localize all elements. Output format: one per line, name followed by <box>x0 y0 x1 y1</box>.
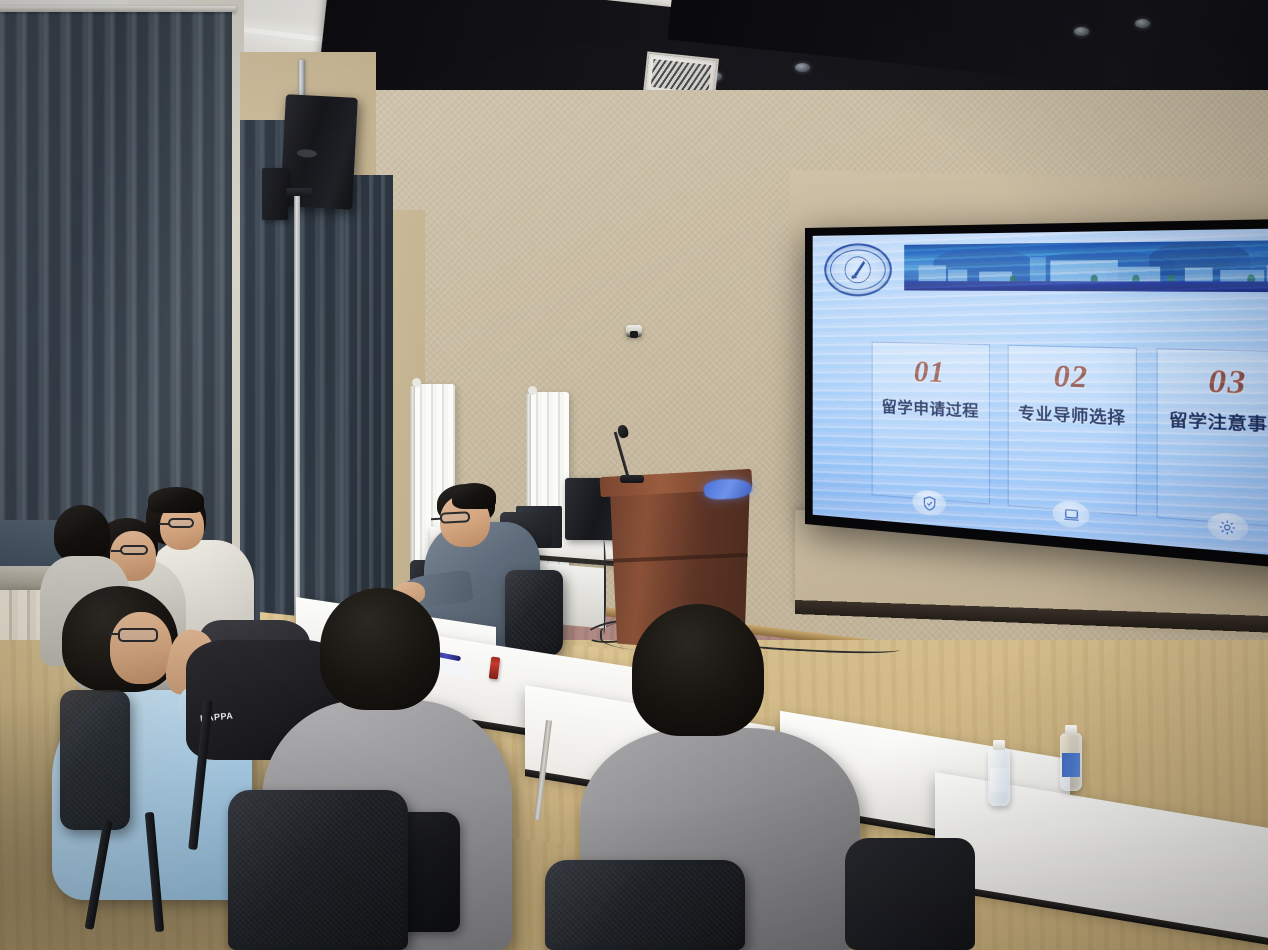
student-3-bangs <box>148 487 204 513</box>
seal-emblem-icon <box>843 254 873 285</box>
slide-card: 01 留学申请过程 <box>872 342 990 505</box>
water-bottle[interactable] <box>988 748 1010 806</box>
card-number: 01 <box>914 358 945 388</box>
recessed-downlight-icon <box>795 63 810 72</box>
student-1-glasses <box>118 628 158 642</box>
student-1-head <box>110 612 172 684</box>
chair-mesh-back <box>510 575 558 651</box>
chair[interactable] <box>545 860 745 950</box>
chair-mesh-back <box>65 695 125 825</box>
curtain-rod <box>0 6 236 12</box>
card-title: 留学注意事项 <box>1169 407 1268 437</box>
gear-icon <box>1206 510 1250 544</box>
window-curtain <box>345 175 393 605</box>
speaker-support-pole <box>294 196 300 616</box>
card-number: 02 <box>1054 362 1089 394</box>
campus-panorama-banner <box>904 240 1268 292</box>
bottle-label <box>990 768 1008 792</box>
security-camera-icon <box>626 325 642 337</box>
slide-surface: 01 留学申请过程 02 专业导师选择 <box>813 228 1268 561</box>
slide-cards-row: 01 留学申请过程 02 专业导师选择 <box>872 342 1268 530</box>
student-4-hair <box>54 505 110 563</box>
chair[interactable] <box>228 790 408 950</box>
shield-check-icon <box>912 488 948 518</box>
recessed-downlight-icon <box>1135 19 1150 28</box>
slide-card: 02 专业导师选择 <box>1007 345 1137 517</box>
laptop-icon <box>1051 499 1090 531</box>
recessed-downlight-icon <box>1074 27 1089 36</box>
card-number: 03 <box>1208 367 1246 401</box>
student-3-glasses <box>168 518 194 528</box>
presenter-glasses <box>440 511 471 524</box>
led-display-screen[interactable]: 01 留学申请过程 02 专业导师选择 <box>805 218 1268 573</box>
chair-mesh-back <box>233 795 403 945</box>
student-6-hair <box>632 604 764 736</box>
speaker-mount-bracket <box>262 168 288 220</box>
card-title: 专业导师选择 <box>1018 401 1126 429</box>
desk-cable <box>600 540 606 635</box>
student-5-hair <box>320 588 440 710</box>
chair[interactable] <box>505 570 563 656</box>
slide-card: 03 留学注意事项 <box>1157 348 1268 529</box>
chair-mesh-back <box>550 865 740 945</box>
university-seal-logo <box>824 243 892 297</box>
seminar-room-photo: 01 留学申请过程 02 专业导师选择 <box>0 0 1268 950</box>
student-2-glasses <box>120 545 148 555</box>
microphone-base <box>620 475 644 483</box>
presenter-hair-top <box>452 483 496 509</box>
backpack[interactable] <box>845 838 975 950</box>
chair[interactable] <box>60 690 130 830</box>
bottle-label <box>1062 753 1080 777</box>
water-bottle[interactable] <box>1060 733 1082 791</box>
card-title: 留学申请过程 <box>882 395 979 422</box>
